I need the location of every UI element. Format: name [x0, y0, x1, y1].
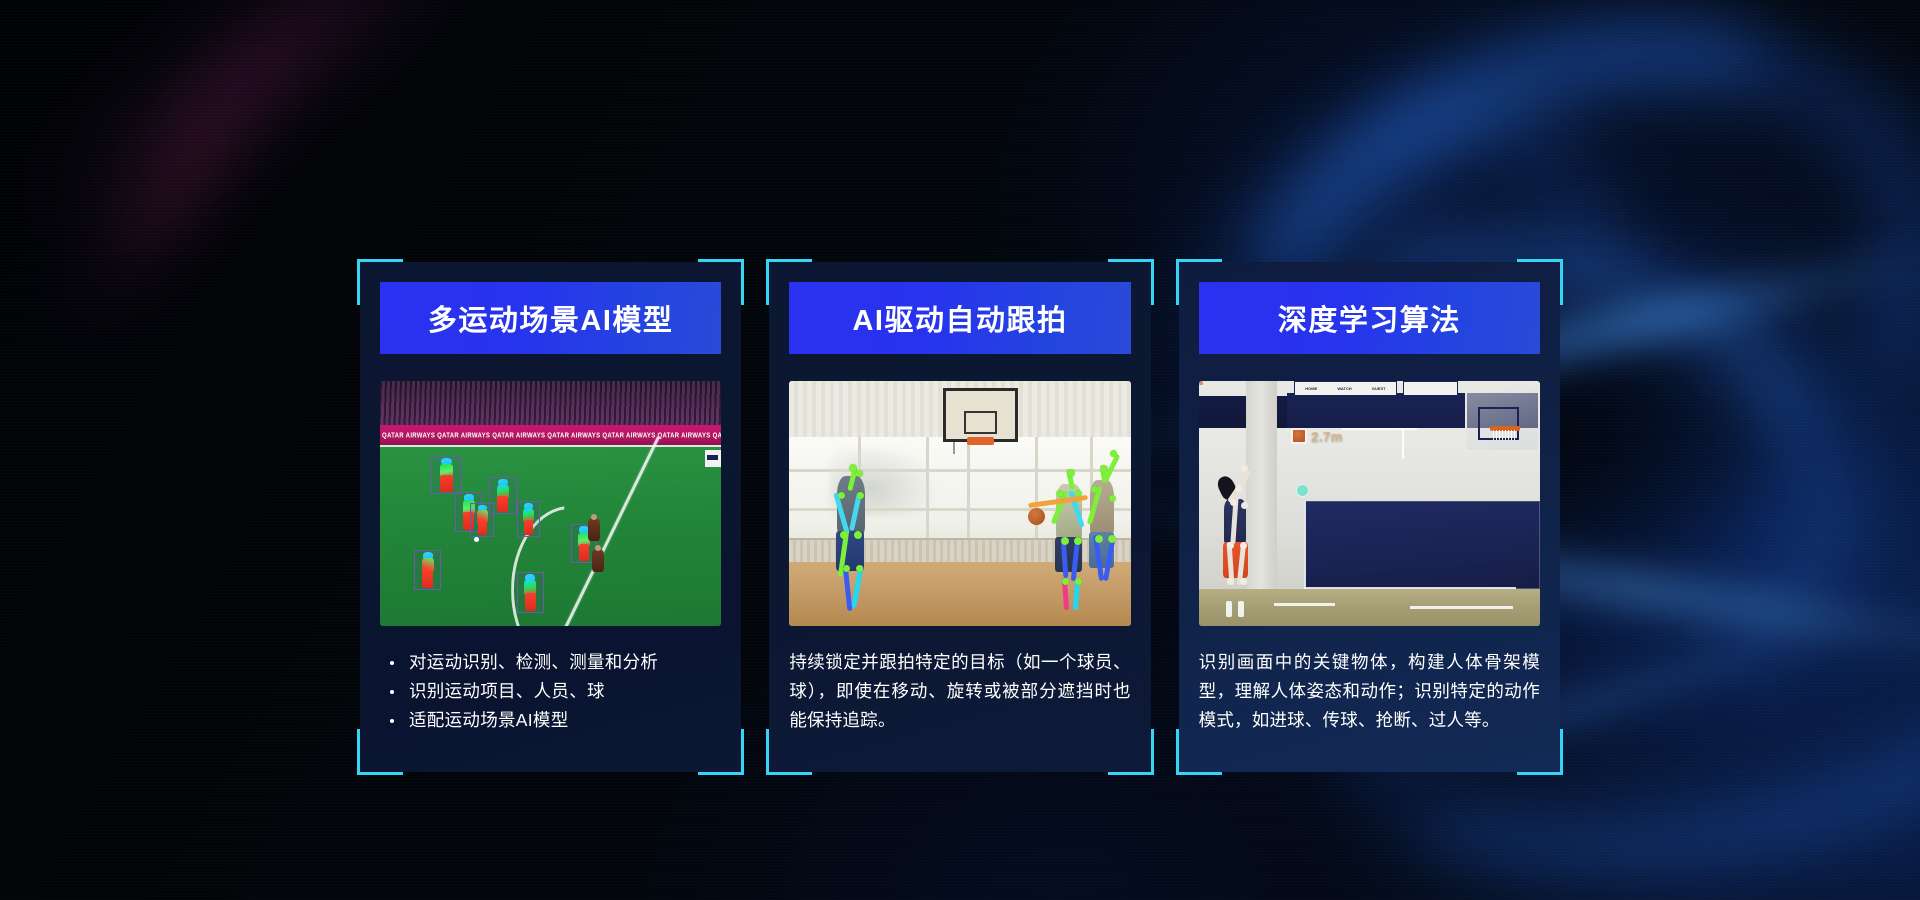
advert-text: QATAR AIRWAYS QATAR AIRWAYS QATAR AIRWAY… [380, 432, 721, 440]
feature-bullet-list: 对运动识别、检测、测量和分析 识别运动项目、人员、球 适配运动场景AI模型 [382, 648, 717, 735]
card-body: 持续锁定并跟拍特定的目标（如一个球员、球），即使在移动、旋转或被部分遮挡时也能保… [789, 626, 1130, 772]
backboard-inner-square [964, 411, 997, 434]
list-item: 识别运动项目、人员、球 [382, 677, 717, 706]
pose-skeleton-overlay [433, 458, 460, 492]
skeleton-joint [1075, 578, 1082, 585]
skeleton-joint [856, 565, 863, 572]
skeleton-joint [1067, 469, 1075, 477]
skeleton-joint [1241, 502, 1248, 509]
card-title: 多运动场景AI模型 [428, 297, 674, 339]
skeleton-joint [838, 492, 845, 499]
pose-skeleton-overlay [472, 505, 492, 535]
skeleton-joint [1230, 499, 1237, 506]
scoreboard-label-home: HOME [1305, 386, 1317, 391]
soccer-pitch [380, 445, 721, 626]
feature-card-deep-learning-algorithm[interactable]: 深度学习算法 HOME WATCH GUEST [1179, 262, 1560, 772]
card-title: AI驱动自动跟拍 [852, 297, 1067, 339]
ball-detection-marker [1291, 428, 1307, 444]
height-measurement-label: 2.7m [1311, 429, 1343, 444]
card-body: 对运动识别、检测、测量和分析 识别运动项目、人员、球 适配运动场景AI模型 [380, 626, 721, 772]
scoreboard-secondary [1403, 381, 1458, 396]
gymnasium-scene-trajectory: HOME WATCH GUEST [1199, 381, 1540, 626]
feature-cards-row: 多运动场景AI模型 QATAR AIRWAYS QATAR AIRWAYS QA… [360, 262, 1560, 772]
player-pose-skeleton [827, 464, 882, 616]
target-marker [1296, 484, 1309, 497]
pose-skeleton-overlay [491, 479, 514, 511]
skeleton-joint [1074, 537, 1082, 545]
soccer-ball [474, 537, 479, 542]
measurement-line-horizontal [1342, 428, 1417, 430]
basketball-net [1493, 430, 1517, 440]
player-detection-box [431, 456, 462, 494]
court-line [1274, 603, 1335, 606]
basketball-rim [967, 437, 994, 444]
player-detection-box [517, 572, 544, 614]
undetected-player [588, 519, 600, 541]
player-shooting-pose [1216, 479, 1264, 621]
gymnasium-scene [789, 381, 1130, 626]
skeleton-joint [843, 565, 850, 572]
measurement-line-side [1304, 501, 1306, 589]
player-pose-skeleton [1083, 462, 1127, 614]
skeleton-joint [1091, 486, 1098, 493]
advertising-banner: QATAR AIRWAYS QATAR AIRWAYS QATAR AIRWAY… [380, 425, 721, 446]
skeleton-joint [1227, 542, 1234, 549]
skeleton-joint [1241, 465, 1248, 472]
feature-card-ai-auto-tracking[interactable]: AI驱动自动跟拍 [769, 262, 1150, 772]
list-item: 适配运动场景AI模型 [382, 706, 717, 735]
player-detection-box [414, 550, 441, 590]
navy-wall-padding [1304, 501, 1540, 589]
pose-skeleton-overlay [416, 552, 439, 588]
card-description: 持续锁定并跟拍特定的目标（如一个球员、球），即使在移动、旋转或被部分遮挡时也能保… [789, 648, 1130, 735]
soccer-field-detection-thumbnail[interactable]: QATAR AIRWAYS QATAR AIRWAYS QATAR AIRWAY… [380, 381, 721, 626]
card-title-banner: AI驱动自动跟拍 [789, 282, 1130, 354]
stadium-crowd [380, 381, 721, 428]
pose-skeleton-overlay [519, 574, 542, 612]
player-detection-box [470, 503, 494, 537]
skeleton-joint [1109, 495, 1116, 502]
skeleton-joint [1240, 542, 1247, 549]
scoreboard-label-watch: WATCH [1337, 386, 1351, 391]
basketball-pose-tracking-thumbnail[interactable] [789, 381, 1130, 626]
card-title-banner: 多运动场景AI模型 [380, 282, 721, 354]
soccer-scene: QATAR AIRWAYS QATAR AIRWAYS QATAR AIRWAY… [380, 381, 721, 626]
skeleton-joint [1235, 485, 1242, 492]
skeleton-joint [1061, 537, 1069, 545]
pitch-boundary-line [380, 445, 721, 447]
skeleton-joint [1095, 535, 1103, 543]
window-mullion [926, 437, 929, 550]
card-title: 深度学习算法 [1278, 297, 1461, 339]
measurement-baseline [1304, 587, 1516, 589]
list-item: 对运动识别、检测、测量和分析 [382, 648, 717, 677]
player-detection-box [517, 501, 541, 537]
court-line [1410, 606, 1512, 609]
skeleton-joint [1108, 535, 1116, 543]
window-mullion [1035, 437, 1038, 550]
basketball-backboard [943, 388, 1018, 442]
scoreboard: HOME WATCH GUEST [1294, 381, 1396, 396]
card-body: 识别画面中的关键物体，构建人体骨架模型，理解人体姿态和动作；识别特定的动作模式，… [1199, 626, 1540, 772]
window-mullion [967, 437, 970, 550]
undetected-player [592, 550, 604, 572]
sponsor-board [705, 450, 721, 467]
shot-trajectory-analysis-thumbnail[interactable]: HOME WATCH GUEST [1199, 381, 1540, 626]
card-description: 识别画面中的关键物体，构建人体骨架模型，理解人体姿态和动作；识别特定的动作模式，… [1199, 648, 1540, 735]
basketball-hoop [1465, 383, 1540, 452]
player-sock [1226, 601, 1232, 617]
skeleton-joint [1240, 578, 1247, 585]
measurement-line-vertical [1402, 428, 1404, 460]
feature-card-multi-sport-ai-model[interactable]: 多运动场景AI模型 QATAR AIRWAYS QATAR AIRWAYS QA… [360, 262, 741, 772]
skeleton-joint [1100, 465, 1108, 473]
card-title-banner: 深度学习算法 [1199, 282, 1540, 354]
pose-skeleton-overlay [519, 503, 539, 535]
skeleton-joint [1062, 578, 1069, 585]
player-sock [1238, 601, 1244, 617]
scoreboard-label-guest: GUEST [1372, 386, 1386, 391]
skeleton-joint [856, 470, 863, 477]
